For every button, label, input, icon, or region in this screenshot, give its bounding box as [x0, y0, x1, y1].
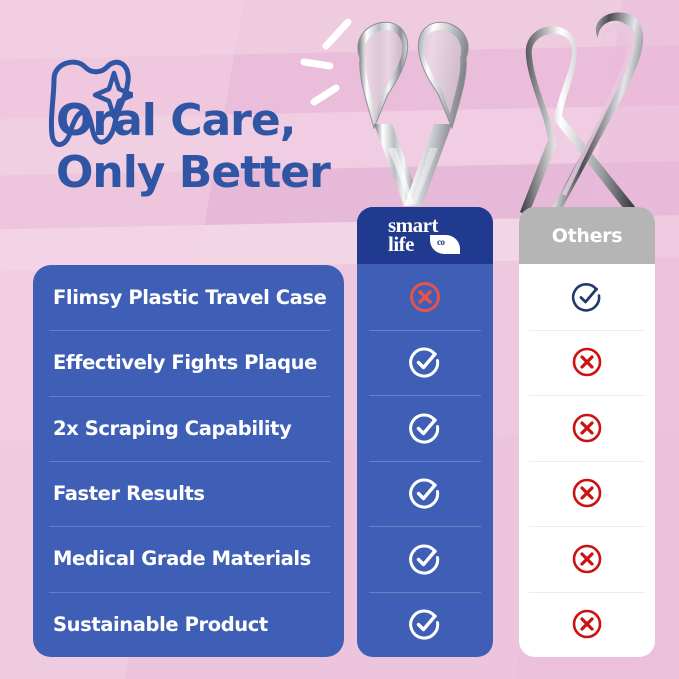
cross-icon [570, 476, 604, 510]
cross-icon [570, 607, 604, 641]
feature-label: 2x Scraping Capability [53, 417, 291, 440]
others-cell-4 [519, 461, 655, 527]
feature-label: Sustainable Product [53, 613, 268, 636]
feature-row: Flimsy Plastic Travel Case [33, 265, 344, 330]
feature-label: Faster Results [53, 482, 205, 505]
brand-logo: smart life co [374, 214, 476, 258]
check-icon [408, 607, 442, 641]
others-comparison-column: Others [519, 207, 655, 657]
feature-row: Faster Results [33, 461, 344, 526]
check-icon [408, 411, 442, 445]
cross-icon [570, 542, 604, 576]
feature-row: Effectively Fights Plaque [33, 330, 344, 395]
cross-icon [408, 280, 442, 314]
others-cell-6 [519, 592, 655, 658]
headline-line-1: Oral Care, [56, 95, 295, 146]
brand-cell-4 [357, 461, 493, 527]
logo-leaf-text: co [437, 237, 445, 247]
page-title: Oral Care, Only Better [56, 95, 330, 199]
others-cell-2 [519, 330, 655, 396]
feature-list-panel: Flimsy Plastic Travel Case Effectively F… [33, 265, 344, 657]
brand-cell-2 [357, 330, 493, 396]
brand-cell-1 [357, 264, 493, 330]
brand-comparison-column: smart life co [357, 207, 493, 657]
check-icon [408, 476, 442, 510]
brand-cell-5 [357, 526, 493, 592]
feature-row: 2x Scraping Capability [33, 396, 344, 461]
brand-cell-6 [357, 592, 493, 658]
others-column-label: Others [552, 225, 623, 247]
infographic-canvas: Oral Care, Only Better Flimsy Plastic Tr… [0, 0, 679, 679]
cross-icon [570, 345, 604, 379]
others-cell-1 [519, 264, 655, 330]
feature-label: Medical Grade Materials [53, 547, 311, 570]
feature-label: Effectively Fights Plaque [53, 351, 317, 374]
feature-label: Flimsy Plastic Travel Case [53, 286, 326, 309]
others-column-header: Others [519, 207, 655, 264]
brand-cell-list [357, 264, 493, 657]
feature-row: Medical Grade Materials [33, 526, 344, 591]
brand-column-header: smart life co [357, 207, 493, 264]
others-cell-3 [519, 395, 655, 461]
cross-icon [570, 411, 604, 445]
product-image-others [500, 0, 675, 225]
check-icon [408, 542, 442, 576]
check-icon [570, 280, 604, 314]
logo-word-life: life [388, 232, 414, 257]
headline-line-2: Only Better [56, 147, 330, 199]
others-cell-list [519, 264, 655, 657]
brand-cell-3 [357, 395, 493, 461]
feature-row: Sustainable Product [33, 592, 344, 657]
check-icon [408, 345, 442, 379]
leaf-icon: co [430, 235, 460, 254]
others-cell-5 [519, 526, 655, 592]
